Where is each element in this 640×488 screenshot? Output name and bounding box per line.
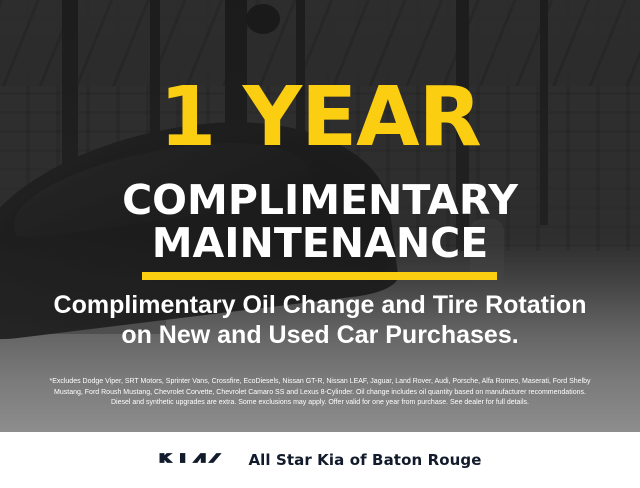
subheadline-line2: on New and Used Car Purchases. [0,321,640,349]
disclaimer-text: *Excludes Dodge Viper, SRT Motors, Sprin… [14,377,626,409]
headline-primary: 1 YEAR [0,77,640,159]
dealer-name-label: All Star Kia of Baton Rouge [248,451,481,469]
promotional-banner: 1 YEAR COMPLIMENTARY MAINTENANCE Complim… [0,0,640,488]
footer-content: All Star Kia of Baton Rouge [158,448,481,473]
headline-secondary-line2: MAINTENANCE [0,223,640,264]
headline-secondary-line1: COMPLIMENTARY [0,180,640,221]
subheadline-line1: Complimentary Oil Change and Tire Rotati… [0,291,640,319]
hero-section: 1 YEAR COMPLIMENTARY MAINTENANCE Complim… [0,0,640,432]
kia-logo-icon [158,448,230,473]
disclaimer-line-2: Mustang, Ford Roush Mustang, Chevrolet C… [14,388,626,399]
disclaimer-line-3: Diesel and synthetic upgrades are extra.… [14,398,626,409]
yellow-divider [142,272,497,280]
banner-copy: 1 YEAR COMPLIMENTARY MAINTENANCE Complim… [0,0,640,432]
disclaimer-line-1: *Excludes Dodge Viper, SRT Motors, Sprin… [14,377,626,388]
footer-bar: All Star Kia of Baton Rouge [0,432,640,488]
